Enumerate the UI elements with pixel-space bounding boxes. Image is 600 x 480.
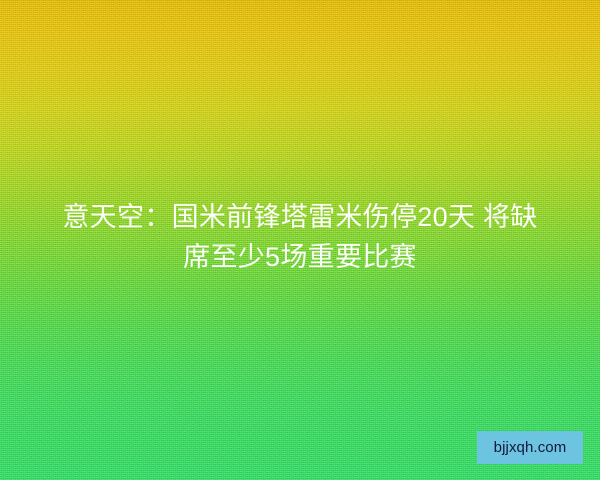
watermark-badge: bjjxqh.com bbox=[477, 431, 583, 464]
news-banner: 意天空：国米前锋塔雷米伤停20天 将缺 席至少5场重要比赛 bjjxqh.com bbox=[0, 0, 600, 480]
headline: 意天空：国米前锋塔雷米伤停20天 将缺 席至少5场重要比赛 bbox=[0, 197, 600, 277]
headline-line-2: 席至少5场重要比赛 bbox=[26, 237, 574, 277]
watermark-text: bjjxqh.com bbox=[494, 440, 567, 455]
headline-line-1: 意天空：国米前锋塔雷米伤停20天 将缺 bbox=[26, 197, 574, 237]
